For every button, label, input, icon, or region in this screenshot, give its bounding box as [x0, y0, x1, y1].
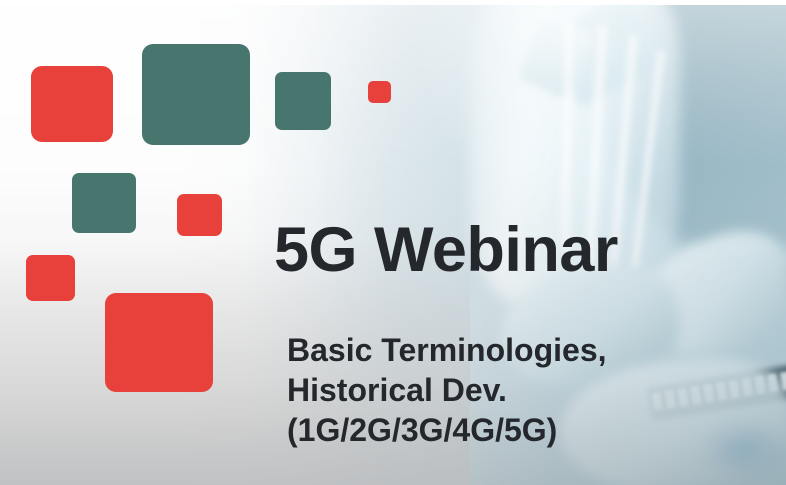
decor-red-square-4 — [26, 255, 75, 301]
slide-subtitle-line-2: Historical Dev. — [287, 370, 607, 410]
webinar-title-slide: 5G Webinar Basic Terminologies, Historic… — [0, 0, 786, 485]
decor-teal-square-1 — [142, 44, 250, 145]
slide-subtitle-line-3: (1G/2G/3G/4G/5G) — [287, 410, 607, 450]
decor-red-square-2 — [368, 81, 391, 103]
slide-subtitle-line-1: Basic Terminologies, — [287, 330, 607, 370]
decor-red-square-5 — [105, 293, 213, 392]
slide-title: 5G Webinar — [274, 219, 618, 282]
decor-teal-square-2 — [275, 72, 331, 130]
decor-red-square-1 — [31, 66, 113, 142]
decor-teal-square-3 — [72, 173, 136, 233]
top-white-strip — [0, 0, 786, 5]
decor-red-square-3 — [177, 194, 222, 236]
slide-subtitle: Basic Terminologies, Historical Dev. (1G… — [287, 330, 607, 450]
